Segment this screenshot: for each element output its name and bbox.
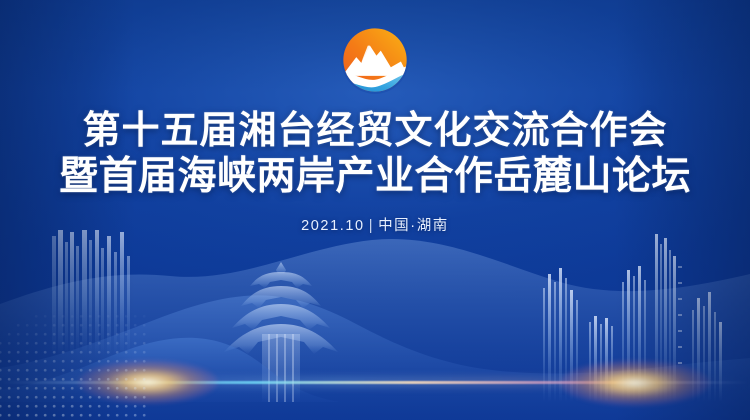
title-line-2: 暨首届海峡两岸产业合作岳麓山论坛 [0,154,750,200]
subtitle-separator: | [365,218,378,234]
mountain-water-circle-logo [339,24,411,96]
scenery-layer [0,230,750,420]
subtitle-date: 2021.10 [301,218,365,234]
logo-container [0,24,750,96]
subtitle-location: 中国·湖南 [378,218,449,234]
title-block: 第十五届湘台经贸文化交流合作会 暨首届海峡两岸产业合作岳麓山论坛 2021.10… [0,108,750,235]
event-banner: 第十五届湘台经贸文化交流合作会 暨首届海峡两岸产业合作岳麓山论坛 2021.10… [0,0,750,420]
horizon-light-streak [0,381,750,384]
subtitle: 2021.10|中国·湖南 [0,214,750,235]
title-line-1: 第十五届湘台经贸文化交流合作会 [0,108,750,154]
